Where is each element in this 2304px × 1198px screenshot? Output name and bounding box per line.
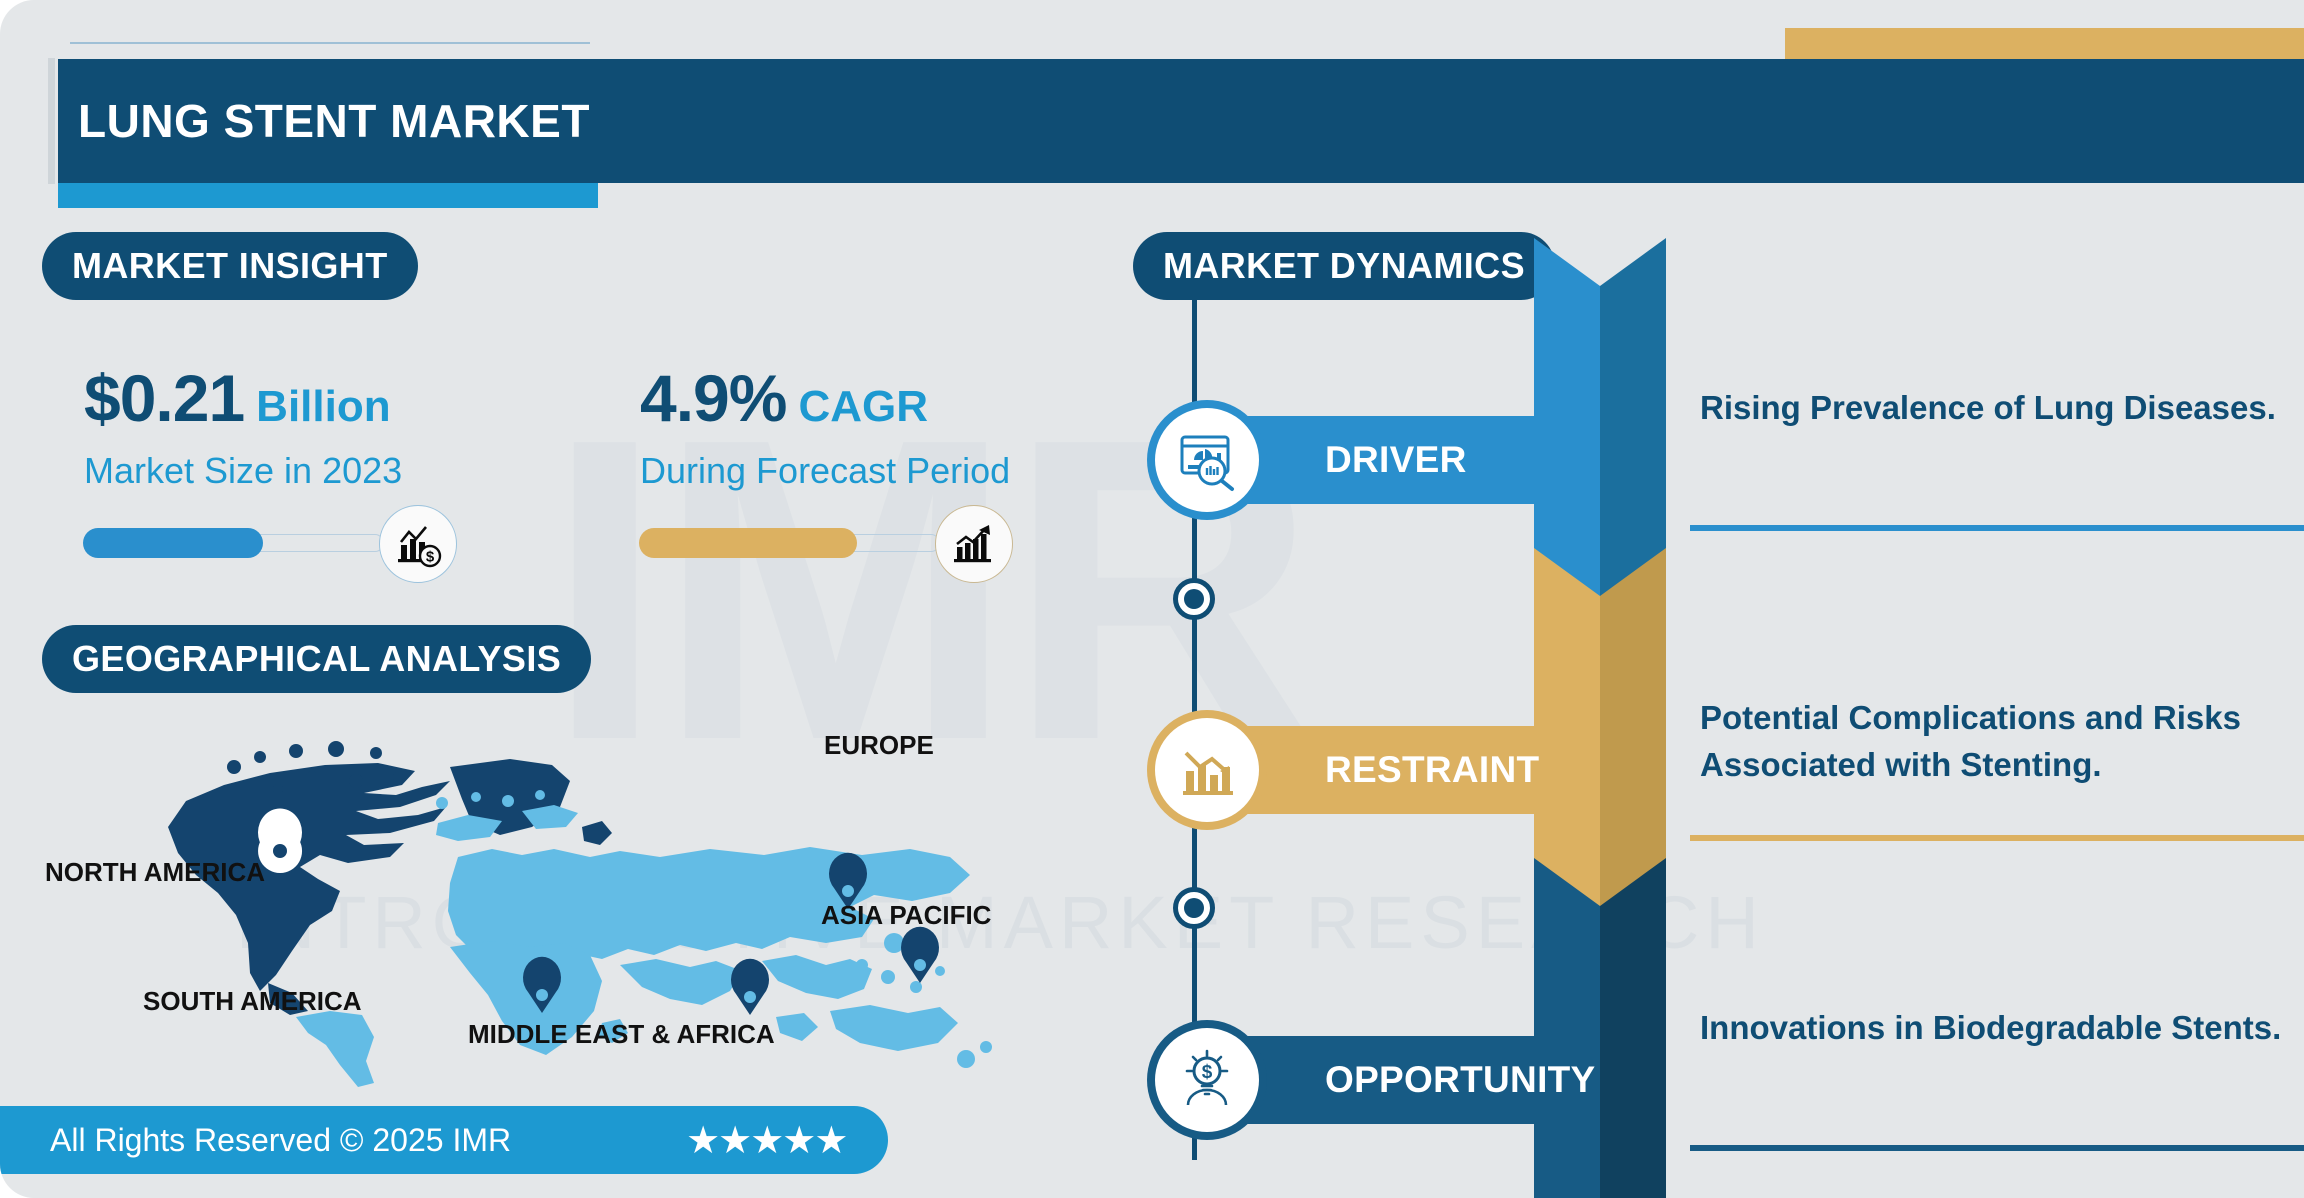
pin-asia-pacific <box>901 927 939 983</box>
driver-connector-line <box>1690 525 2304 531</box>
pin-middle-east-africa <box>731 959 769 1015</box>
gold-accent-tab <box>1785 28 2304 60</box>
restraint-badge <box>1147 710 1267 830</box>
opportunity-label: OPPORTUNITY <box>1325 1059 1596 1101</box>
map-label-south-america: SOUTH AMERICA <box>143 986 362 1017</box>
kpi-cagr: 4.9%CAGR During Forecast Period <box>640 360 1010 492</box>
infographic-canvas: IMR INTROSPECTIVE MARKET RESEARCH LUNG S… <box>0 0 2304 1198</box>
market-dynamics-heading: MARKET DYNAMICS <box>1133 232 1555 300</box>
driver-description: Rising Prevalence of Lung Diseases. <box>1700 385 2300 432</box>
svg-text:$: $ <box>426 549 435 566</box>
restraint-label: RESTRAINT <box>1325 749 1539 791</box>
map-label-north-america: NORTH AMERICA <box>45 857 265 888</box>
rating-stars-icon: ★★★★★ <box>686 1118 846 1163</box>
kpi-market-size-unit: Billion <box>256 382 390 432</box>
kpi-cagr-unit: CAGR <box>798 382 928 432</box>
opportunity-badge: $ <box>1147 1020 1267 1140</box>
map-label-asia-pacific: ASIA PACIFIC <box>821 900 991 931</box>
footer-copyright: All Rights Reserved © 2025 IMR <box>50 1122 511 1159</box>
kpi-market-size: $0.21Billion Market Size in 2023 <box>84 360 402 492</box>
bar-chart-dollar-icon: $ <box>379 505 457 583</box>
header-left-tick <box>48 58 55 184</box>
kpi-market-size-caption: Market Size in 2023 <box>84 450 402 492</box>
header-hairline <box>70 42 590 44</box>
geographical-analysis-heading: GEOGRAPHICAL ANALYSIS <box>42 625 591 693</box>
map-label-europe: EUROPE <box>824 730 934 761</box>
opportunity-connector-line <box>1690 1145 2304 1151</box>
restraint-description: Potential Complications and Risks Associ… <box>1700 695 2300 789</box>
opportunity-description: Innovations in Biodegradable Stents. <box>1700 1005 2300 1052</box>
market-size-progress-fill <box>83 528 263 558</box>
declining-bar-chart-icon <box>1155 718 1259 822</box>
dynamics-row-opportunity: OPPORTUNITY $ <box>1145 950 2304 1198</box>
kpi-cagr-caption: During Forecast Period <box>640 450 1010 492</box>
dashboard-magnifier-icon <box>1155 408 1259 512</box>
market-size-progress-track <box>84 534 384 552</box>
driver-label: DRIVER <box>1325 439 1467 481</box>
lightbulb-dollar-icon: $ <box>1155 1028 1259 1132</box>
page-title: LUNG STENT MARKET <box>78 59 590 183</box>
header-accent-bar <box>58 183 598 208</box>
svg-text:$: $ <box>1202 1062 1213 1083</box>
footer-bar: All Rights Reserved © 2025 IMR ★★★★★ <box>0 1106 888 1174</box>
map-label-middle-east-africa: MIDDLE EAST & AFRICA <box>468 1019 775 1050</box>
kpi-market-size-value: $0.21 <box>84 360 244 436</box>
cagr-progress-fill <box>639 528 857 558</box>
market-insight-heading: MARKET INSIGHT <box>42 232 418 300</box>
growth-arrow-chart-icon <box>935 505 1013 583</box>
opportunity-chevron-icon <box>1534 858 1666 1198</box>
restraint-connector-line <box>1690 835 2304 841</box>
kpi-cagr-value: 4.9% <box>640 360 786 436</box>
driver-badge <box>1147 400 1267 520</box>
cagr-progress-track <box>640 534 940 552</box>
dynamics-row-driver: DRIVER <box>1145 330 2304 590</box>
dynamics-row-restraint: RESTRAINT Potential Complications and Ri <box>1145 640 2304 900</box>
